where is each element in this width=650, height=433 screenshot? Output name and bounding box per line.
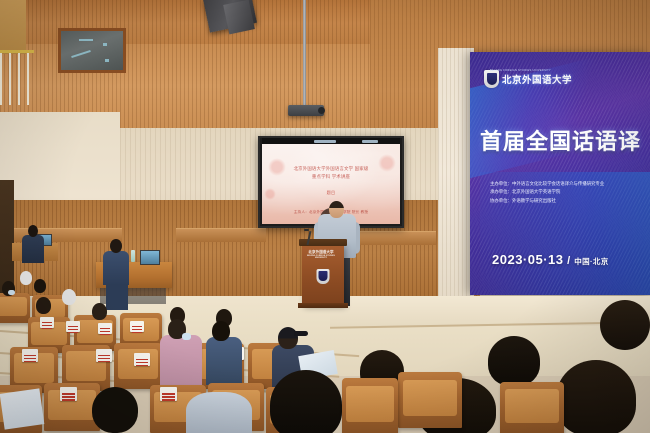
university-logo: 北京外国语大学 bbox=[484, 70, 572, 88]
screen-top-bezel bbox=[262, 138, 400, 144]
attendee-head bbox=[36, 297, 51, 314]
laptop-icon bbox=[140, 250, 160, 265]
name-card bbox=[40, 317, 54, 328]
banner-date-line: 2023·05·13 / 中国·北京 bbox=[492, 252, 609, 267]
name-card bbox=[134, 353, 150, 366]
name-card bbox=[130, 321, 144, 332]
slide-title-line-1: 北京外国语大学外国语言文学 国家级 bbox=[262, 166, 400, 172]
banner-place-value: 中国·北京 bbox=[574, 257, 609, 266]
name-card bbox=[66, 321, 80, 332]
wall-trim-panel bbox=[352, 231, 436, 245]
university-name-en: BEIJING FOREIGN STUDIES UNIVERSITY bbox=[490, 69, 551, 72]
name-card bbox=[96, 349, 112, 362]
attendee-head bbox=[34, 279, 46, 293]
name-card bbox=[98, 323, 112, 334]
control-room-window bbox=[58, 28, 126, 73]
far-left-operator-torso bbox=[22, 235, 44, 263]
av-operator-head bbox=[110, 239, 122, 253]
foreground-head-left bbox=[270, 370, 342, 433]
seat[interactable] bbox=[342, 378, 398, 433]
university-name-cn: 北京外国语大学 bbox=[502, 72, 572, 86]
conference-hall-photo: 北京外国语大学外国语言文学 国家级 重点学科 学术讲座 题目 主持人：北京外国语… bbox=[0, 0, 650, 433]
projector-mount-pole bbox=[303, 0, 306, 108]
podium-plaque: 北京外国语大学 BEIJING FOREIGN STUDIES UNIVERSI… bbox=[305, 250, 337, 259]
far-left-operator-head bbox=[28, 225, 38, 237]
attendee-torso bbox=[206, 337, 242, 385]
name-card bbox=[22, 349, 38, 362]
banner-separator: / bbox=[567, 255, 571, 267]
led-stage-banner: 北京外国语大学 BEIJING FOREIGN STUDIES UNIVERSI… bbox=[470, 52, 650, 295]
shield-icon bbox=[484, 70, 499, 88]
organizer-undertaker: 承办单位：北京外国语大学英语学院 bbox=[490, 188, 604, 196]
podium-emblem-icon bbox=[317, 269, 330, 284]
projector-lens bbox=[318, 107, 325, 114]
microphone-icon bbox=[304, 229, 309, 231]
seat[interactable] bbox=[114, 343, 162, 389]
water-bottle bbox=[131, 250, 135, 262]
slide-subtitle: 题目 bbox=[262, 190, 400, 196]
banner-organizers: 主办单位：中外语言文化比较学会话语译介与传播研究专业 承办单位：北京外国语大学英… bbox=[490, 180, 604, 205]
attendee-head bbox=[92, 303, 107, 320]
left-wall-edge bbox=[0, 0, 26, 54]
podium-plaque-en: BEIJING FOREIGN STUDIES UNIVERSITY bbox=[305, 255, 337, 260]
speaker-head bbox=[329, 201, 344, 218]
attendee-head bbox=[212, 321, 230, 341]
podium-plaque-cn: 北京外国语大学 bbox=[305, 250, 337, 255]
name-card bbox=[60, 387, 77, 401]
handout-paper bbox=[0, 388, 44, 429]
organizer-coorganizer: 协办单位：外语教学与研究出版社 bbox=[490, 197, 604, 205]
wall-trim-panel bbox=[176, 228, 266, 242]
seat[interactable] bbox=[398, 372, 462, 428]
foreground-head-far-right bbox=[600, 300, 650, 350]
seat[interactable] bbox=[0, 293, 30, 323]
slide-title-line-2: 重点学科 学术讲座 bbox=[262, 174, 400, 180]
wall-pilaster bbox=[438, 48, 474, 298]
attendee-head-grey bbox=[20, 271, 32, 285]
foreground-shoulder bbox=[186, 392, 252, 433]
attendee-head-grey bbox=[62, 289, 76, 305]
banner-date-value: 2023·05·13 bbox=[492, 252, 564, 267]
attendee-head-front bbox=[92, 387, 138, 433]
cap-brim-icon bbox=[294, 331, 308, 336]
seat[interactable] bbox=[500, 382, 564, 433]
av-operator-torso bbox=[103, 251, 129, 285]
organizer-host: 主办单位：中外语言文化比较学会话语译介与传播研究专业 bbox=[490, 180, 604, 188]
name-card bbox=[160, 387, 177, 401]
foreground-head-upper bbox=[488, 336, 540, 386]
banner-main-title: 首届全国话语译 bbox=[480, 124, 641, 156]
face-mask bbox=[8, 290, 15, 295]
foreground-head-right bbox=[556, 360, 636, 433]
face-mask bbox=[182, 333, 191, 340]
balcony-railing bbox=[0, 50, 34, 105]
